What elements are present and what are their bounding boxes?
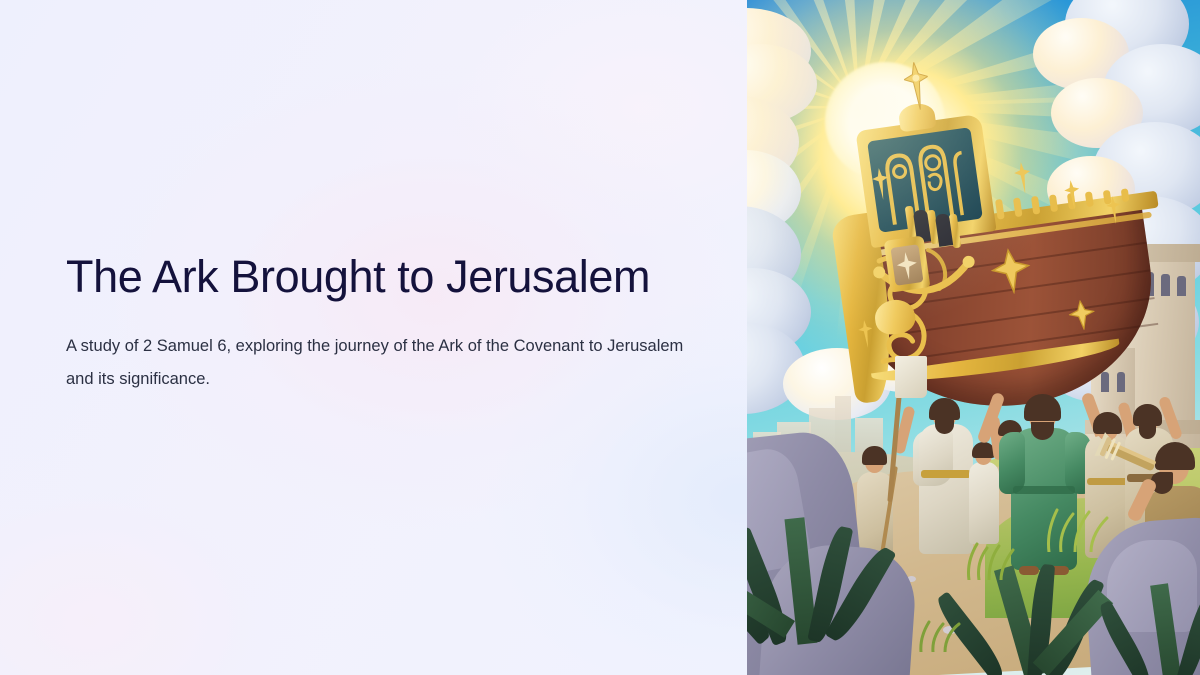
illustration-panel — [747, 0, 1200, 675]
belt — [1087, 478, 1129, 485]
figure-hair — [1024, 394, 1061, 421]
page-title: The Ark Brought to Jerusalem — [66, 252, 706, 302]
figure-sleeve-left — [999, 432, 1025, 494]
grass-tuft — [915, 618, 965, 652]
page-subtitle: A study of 2 Samuel 6, exploring the jou… — [66, 330, 684, 396]
figure-hair — [1093, 412, 1122, 434]
figure-hair — [1133, 404, 1162, 426]
tower-window — [1101, 372, 1109, 392]
figure-hair — [862, 446, 887, 465]
belt — [921, 470, 971, 478]
tower-window — [1117, 372, 1125, 392]
banner-cloth — [895, 356, 927, 398]
grass-tuft — [961, 540, 1021, 580]
title-slide: The Ark Brought to Jerusalem A study of … — [0, 0, 1200, 675]
text-panel: The Ark Brought to Jerusalem A study of … — [0, 0, 747, 675]
grass-tuft — [1043, 506, 1113, 552]
tower-window — [1177, 276, 1186, 296]
ark-illustration — [747, 0, 1200, 675]
figure-robe-child — [969, 462, 999, 544]
ark-icon-image — [890, 244, 923, 286]
title-block: The Ark Brought to Jerusalem A study of … — [66, 252, 706, 396]
figure-hair — [929, 398, 960, 420]
tower-window — [1161, 274, 1170, 296]
belt — [1013, 486, 1075, 494]
ark-cross-emblem-small — [1067, 298, 1097, 331]
sandal — [1019, 566, 1039, 575]
